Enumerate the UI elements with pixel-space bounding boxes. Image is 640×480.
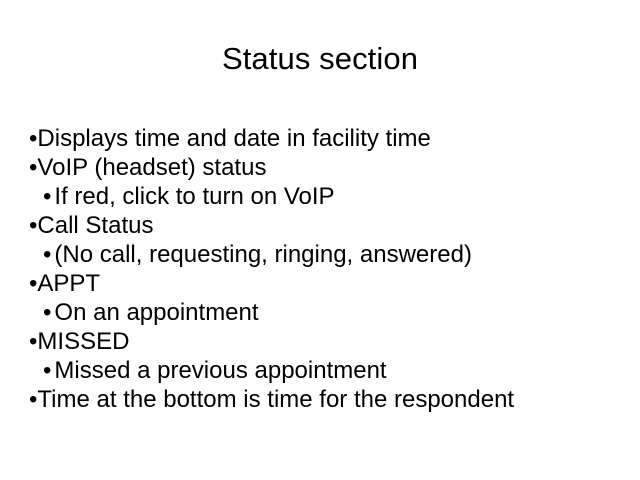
list-item-label: APPT <box>37 270 100 297</box>
bullet-icon: • <box>43 298 51 327</box>
list-item-label: (No call, requesting, ringing, answered) <box>54 241 472 268</box>
list-item: •On an appointment <box>0 298 640 327</box>
bullet-icon: • <box>43 182 51 211</box>
list-item: •MISSED <box>0 327 640 356</box>
list-item-label: VoIP (headset) status <box>37 154 266 181</box>
bullet-list: •Displays time and date in facility time… <box>0 124 640 414</box>
list-item-label: Displays time and date in facility time <box>37 125 431 152</box>
list-item: •Displays time and date in facility time <box>0 124 640 153</box>
page-title: Status section <box>0 40 640 78</box>
bullet-icon: • <box>43 356 51 385</box>
list-item-label: On an appointment <box>54 299 258 326</box>
list-item: •Missed a previous appointment <box>0 356 640 385</box>
list-item-label: MISSED <box>37 328 129 355</box>
list-item: •Call Status <box>0 211 640 240</box>
list-item: •(No call, requesting, ringing, answered… <box>0 240 640 269</box>
list-item-label: Missed a previous appointment <box>54 357 386 384</box>
list-item: •APPT <box>0 269 640 298</box>
list-item: •Time at the bottom is time for the resp… <box>0 385 640 414</box>
slide-canvas: Status section •Displays time and date i… <box>0 0 640 480</box>
list-item: •VoIP (headset) status <box>0 153 640 182</box>
list-item-label: Call Status <box>37 212 153 239</box>
list-item-label: If red, click to turn on VoIP <box>54 183 334 210</box>
bullet-icon: • <box>43 240 51 269</box>
list-item: •If red, click to turn on VoIP <box>0 182 640 211</box>
list-item-label: Time at the bottom is time for the respo… <box>37 386 514 413</box>
